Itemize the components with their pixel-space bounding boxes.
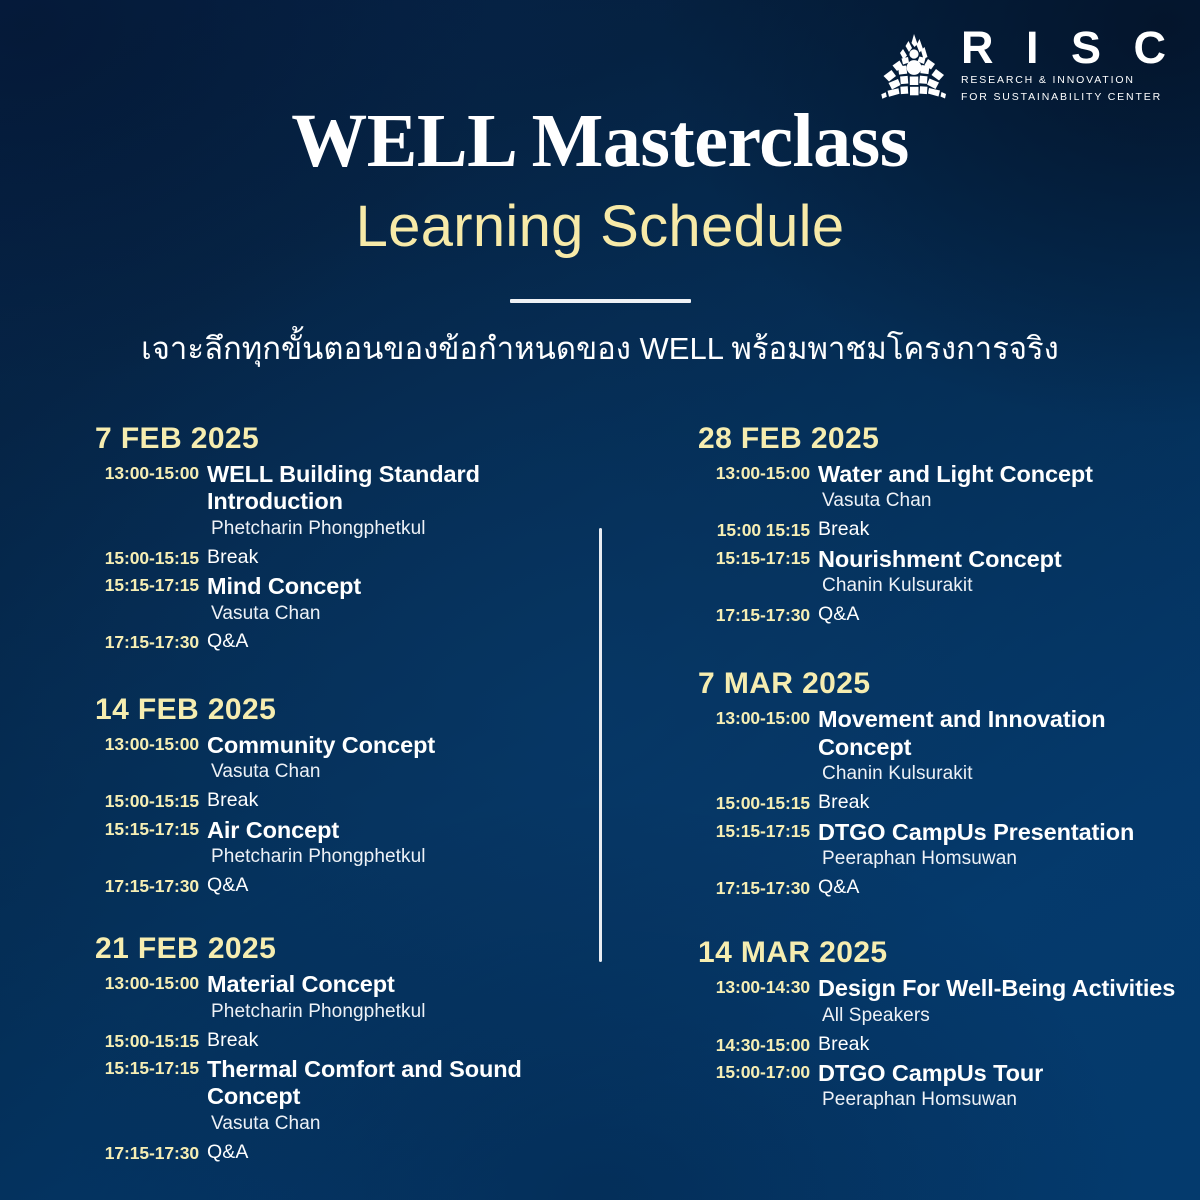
session-speaker: All Speakers <box>818 1005 1178 1028</box>
session-body: Break <box>207 789 565 811</box>
session-title: Break <box>207 546 565 568</box>
schedule-session-row: 17:15-17:30Q&A <box>698 603 1178 625</box>
session-time: 17:15-17:30 <box>698 876 818 898</box>
schedule-session-row: 17:15-17:30Q&A <box>95 874 565 896</box>
schedule-day: 7 FEB 202513:00-15:00WELL Building Stand… <box>95 424 565 653</box>
session-title: Water and Light Concept <box>818 461 1178 488</box>
session-speaker: Chanin Kulsurakit <box>818 575 1178 598</box>
risc-wordmark: R I S C <box>961 26 1176 70</box>
column-divider <box>599 528 602 962</box>
schedule-day: 14 FEB 202513:00-15:00Community ConceptV… <box>95 695 565 896</box>
schedule-session-row: 15:15-17:15Thermal Comfort and Sound Con… <box>95 1056 565 1136</box>
session-time: 17:15-17:30 <box>95 630 207 652</box>
poster-canvas: R I S C RESEARCH & INNOVATION FOR SUSTAI… <box>0 0 1200 1200</box>
schedule-session-row: 15:15-17:15Mind ConceptVasuta Chan <box>95 573 565 625</box>
page-subtitle: Learning Schedule <box>0 198 1200 256</box>
session-speaker: Phetcharin Phongphetkul <box>207 846 565 869</box>
session-title: Q&A <box>207 874 565 896</box>
risc-logo: R I S C RESEARCH & INNOVATION FOR SUSTAI… <box>881 26 1176 104</box>
session-title: Air Concept <box>207 817 565 844</box>
schedule-session-row: 15:00-17:00DTGO CampUs TourPeeraphan Hom… <box>698 1060 1178 1112</box>
schedule-day: 7 MAR 202513:00-15:00Movement and Innova… <box>698 669 1178 898</box>
page-tagline-thai: เจาะลึกทุกขั้นตอนของข้อกำหนดของ WELL พร้… <box>0 330 1200 369</box>
session-title: Movement and Innovation Concept <box>818 706 1178 761</box>
schedule-session-row: 15:15-17:15Air ConceptPhetcharin Phongph… <box>95 817 565 869</box>
session-title: Break <box>818 791 1178 813</box>
session-body: Break <box>818 791 1178 813</box>
session-time: 15:00 15:15 <box>698 518 818 540</box>
schedule-day-date: 7 MAR 2025 <box>698 669 1178 699</box>
session-speaker: Vasuta Chan <box>207 761 565 784</box>
session-body: Q&A <box>207 630 565 652</box>
schedule-session-row: 15:15-17:15DTGO CampUs PresentationPeera… <box>698 819 1178 871</box>
session-title: Q&A <box>818 876 1178 898</box>
schedule-day-date: 14 FEB 2025 <box>95 695 565 725</box>
session-time: 13:00-15:00 <box>95 971 207 993</box>
schedule-session-row: 13:00-15:00Community ConceptVasuta Chan <box>95 732 565 784</box>
schedule-session-row: 13:00-14:30Design For Well-Being Activit… <box>698 975 1178 1027</box>
session-title: DTGO CampUs Presentation <box>818 819 1178 846</box>
session-title: Thermal Comfort and Sound Concept <box>207 1056 565 1111</box>
session-title: Mind Concept <box>207 573 565 600</box>
session-time: 15:15-17:15 <box>95 1056 207 1078</box>
session-body: Q&A <box>818 876 1178 898</box>
session-body: Q&A <box>207 1141 565 1163</box>
session-time: 15:15-17:15 <box>95 817 207 839</box>
session-speaker: Phetcharin Phongphetkul <box>207 1001 565 1024</box>
session-title: Break <box>818 518 1178 540</box>
session-title: Design For Well-Being Activities <box>818 975 1178 1002</box>
session-time: 13:00-15:00 <box>698 706 818 728</box>
session-body: Air ConceptPhetcharin Phongphetkul <box>207 817 565 869</box>
session-time: 15:15-17:15 <box>698 546 818 568</box>
session-time: 15:00-17:00 <box>698 1060 818 1082</box>
session-speaker: Chanin Kulsurakit <box>818 763 1178 786</box>
session-time: 14:30-15:00 <box>698 1033 818 1055</box>
session-time: 17:15-17:30 <box>95 1141 207 1163</box>
session-title: Break <box>207 1029 565 1051</box>
session-title: Break <box>207 789 565 811</box>
session-time: 15:00-15:15 <box>95 546 207 568</box>
schedule-session-row: 13:00-15:00Movement and Innovation Conce… <box>698 706 1178 786</box>
risc-triangle-mosaic-logo-icon <box>881 31 947 99</box>
schedule-session-row: 17:15-17:30Q&A <box>95 630 565 652</box>
session-speaker: Vasuta Chan <box>818 490 1178 513</box>
schedule-day-date: 28 FEB 2025 <box>698 424 1178 454</box>
session-time: 15:00-15:15 <box>95 1029 207 1051</box>
schedule-day: 21 FEB 202513:00-15:00Material ConceptPh… <box>95 934 565 1163</box>
schedule-session-row: 13:00-15:00Water and Light ConceptVasuta… <box>698 461 1178 513</box>
schedule-session-row: 15:00-15:15Break <box>95 789 565 811</box>
schedule-session-row: 15:00 15:15Break <box>698 518 1178 540</box>
schedule-session-row: 17:15-17:30Q&A <box>95 1141 565 1163</box>
session-body: Water and Light ConceptVasuta Chan <box>818 461 1178 513</box>
session-body: Break <box>818 518 1178 540</box>
session-speaker: Peeraphan Homsuwan <box>818 848 1178 871</box>
session-title: Q&A <box>818 603 1178 625</box>
session-body: Design For Well-Being ActivitiesAll Spea… <box>818 975 1178 1027</box>
session-title: DTGO CampUs Tour <box>818 1060 1178 1087</box>
session-body: Q&A <box>818 603 1178 625</box>
session-body: Break <box>207 546 565 568</box>
schedule-session-row: 15:00-15:15Break <box>698 791 1178 813</box>
schedule-session-row: 15:15-17:15Nourishment ConceptChanin Kul… <box>698 546 1178 598</box>
session-title: Material Concept <box>207 971 565 998</box>
session-body: Break <box>818 1033 1178 1055</box>
session-body: WELL Building Standard IntroductionPhetc… <box>207 461 565 541</box>
session-time: 15:00-15:15 <box>95 789 207 811</box>
session-time: 13:00-15:00 <box>95 461 207 483</box>
schedule-day-date: 14 MAR 2025 <box>698 938 1178 968</box>
session-time: 13:00-15:00 <box>95 732 207 754</box>
schedule-column-right: 28 FEB 202513:00-15:00Water and Light Co… <box>698 424 1178 1112</box>
session-title: Nourishment Concept <box>818 546 1178 573</box>
schedule-day: 28 FEB 202513:00-15:00Water and Light Co… <box>698 424 1178 625</box>
schedule-day-date: 21 FEB 2025 <box>95 934 565 964</box>
session-body: Nourishment ConceptChanin Kulsurakit <box>818 546 1178 598</box>
session-body: DTGO CampUs PresentationPeeraphan Homsuw… <box>818 819 1178 871</box>
header-divider <box>510 299 691 303</box>
session-title: Break <box>818 1033 1178 1055</box>
session-time: 15:15-17:15 <box>95 573 207 595</box>
session-time: 17:15-17:30 <box>95 874 207 896</box>
session-body: Movement and Innovation ConceptChanin Ku… <box>818 706 1178 786</box>
session-title: Community Concept <box>207 732 565 759</box>
page-title: WELL Masterclass <box>0 103 1200 179</box>
session-body: Material ConceptPhetcharin Phongphetkul <box>207 971 565 1023</box>
schedule-session-row: 17:15-17:30Q&A <box>698 876 1178 898</box>
session-body: Mind ConceptVasuta Chan <box>207 573 565 625</box>
session-speaker: Peeraphan Homsuwan <box>818 1089 1178 1112</box>
session-body: Thermal Comfort and Sound ConceptVasuta … <box>207 1056 565 1136</box>
session-time: 13:00-14:30 <box>698 975 818 997</box>
schedule-day: 14 MAR 202513:00-14:30Design For Well-Be… <box>698 938 1178 1112</box>
session-title: Q&A <box>207 630 565 652</box>
schedule-column-left: 7 FEB 202513:00-15:00WELL Building Stand… <box>95 424 565 1163</box>
schedule-session-row: 13:00-15:00Material ConceptPhetcharin Ph… <box>95 971 565 1023</box>
session-time: 13:00-15:00 <box>698 461 818 483</box>
schedule-session-row: 13:00-15:00WELL Building Standard Introd… <box>95 461 565 541</box>
session-time: 15:00-15:15 <box>698 791 818 813</box>
session-body: DTGO CampUs TourPeeraphan Homsuwan <box>818 1060 1178 1112</box>
schedule-day-date: 7 FEB 2025 <box>95 424 565 454</box>
session-speaker: Phetcharin Phongphetkul <box>207 518 565 541</box>
session-time: 15:15-17:15 <box>698 819 818 841</box>
session-time: 17:15-17:30 <box>698 603 818 625</box>
session-body: Break <box>207 1029 565 1051</box>
schedule-session-row: 14:30-15:00Break <box>698 1033 1178 1055</box>
session-title: WELL Building Standard Introduction <box>207 461 565 516</box>
session-title: Q&A <box>207 1141 565 1163</box>
schedule-session-row: 15:00-15:15Break <box>95 546 565 568</box>
risc-tagline-line1: RESEARCH & INNOVATION <box>961 73 1135 87</box>
session-body: Community ConceptVasuta Chan <box>207 732 565 784</box>
session-speaker: Vasuta Chan <box>207 1113 565 1136</box>
schedule-session-row: 15:00-15:15Break <box>95 1029 565 1051</box>
session-body: Q&A <box>207 874 565 896</box>
session-speaker: Vasuta Chan <box>207 603 565 626</box>
